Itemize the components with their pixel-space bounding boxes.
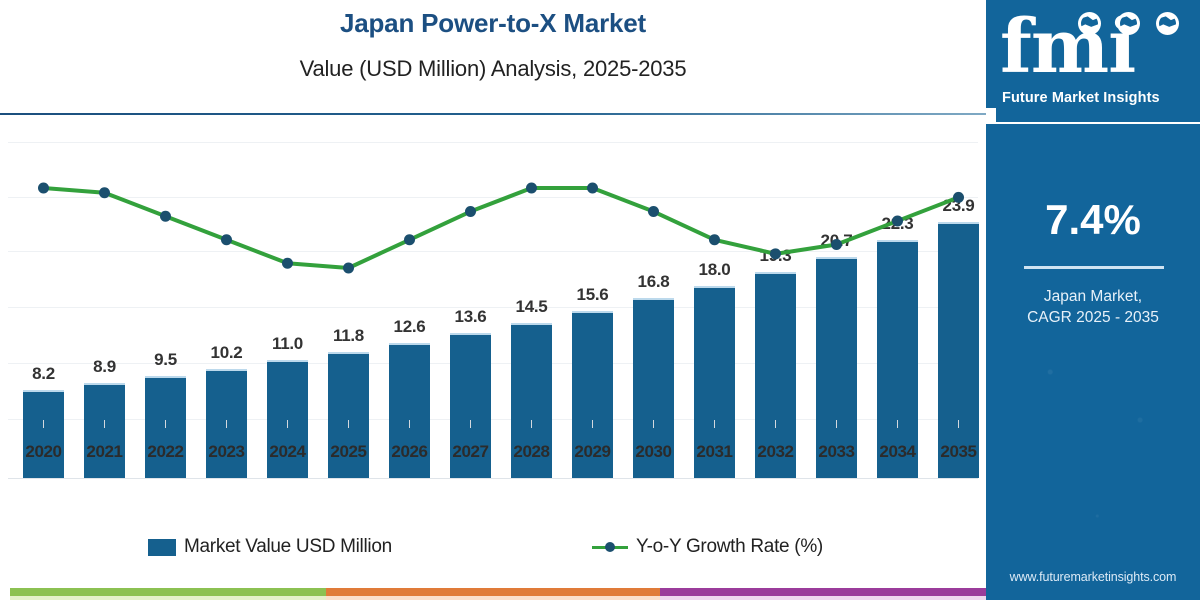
- x-axis-tick: [165, 420, 166, 428]
- x-axis-tick: [531, 420, 532, 428]
- x-axis-tick: [836, 420, 837, 428]
- growth-line-marker[interactable]: 2029: 8.6%: [587, 183, 598, 194]
- legend-swatch-line-icon: [592, 540, 628, 554]
- growth-line-marker[interactable]: 2031: 7.5%: [709, 234, 720, 245]
- chart-header: Japan Power-to-X Market Value (USD Milli…: [0, 0, 986, 114]
- bar-value-label: 16.8: [623, 272, 684, 292]
- x-axis-label: 2031: [681, 442, 748, 462]
- x-axis-label: 2030: [620, 442, 687, 462]
- x-axis-line: [8, 478, 978, 479]
- sidebar-url: www.futuremarketinsights.com: [986, 570, 1200, 584]
- gridline: [8, 142, 978, 143]
- growth-line-marker[interactable]: 2025: 6.9%: [343, 263, 354, 274]
- bar-value-label: 18.0: [684, 260, 745, 280]
- growth-line-marker[interactable]: 2022: 8%: [160, 211, 171, 222]
- header-divider: [0, 113, 986, 115]
- x-axis-tick: [409, 420, 410, 428]
- legend-item-market-value[interactable]: Market Value USD Million: [148, 536, 392, 558]
- bar-value-label: 9.5: [135, 350, 196, 370]
- x-axis-label: 2022: [132, 442, 199, 462]
- growth-line-marker[interactable]: 2020: 8.6%: [38, 183, 49, 194]
- x-axis-tick: [226, 420, 227, 428]
- bar-value-label: 14.5: [501, 297, 562, 317]
- bar-value-label: 15.6: [562, 285, 623, 305]
- x-axis-label: 2024: [254, 442, 321, 462]
- bar-value-label: 10.2: [196, 343, 257, 363]
- globe-icon: [1078, 12, 1101, 35]
- strip-glow-orange: [326, 596, 660, 600]
- x-axis-label: 2021: [71, 442, 138, 462]
- gridline: [8, 251, 978, 252]
- bar-value-label: 11.8: [318, 326, 379, 346]
- chart-legend: Market Value USD Million Y-o-Y Growth Ra…: [0, 536, 986, 572]
- growth-line-marker[interactable]: 2026: 7.5%: [404, 234, 415, 245]
- x-axis-label: 2027: [437, 442, 504, 462]
- cagr-value: 7.4%: [986, 196, 1200, 244]
- x-axis-tick: [287, 420, 288, 428]
- x-axis-tick: [775, 420, 776, 428]
- plot-area: 8.220208.920219.5202210.2202311.0202411.…: [0, 116, 986, 536]
- bar-value-label: 19.3: [745, 246, 806, 266]
- cagr-caption: Japan Market, CAGR 2025 - 2035: [986, 286, 1200, 328]
- strip-segment-orange: [326, 588, 660, 596]
- x-axis-label: 2029: [559, 442, 626, 462]
- cagr-caption-line1: Japan Market,: [1044, 288, 1142, 305]
- strip-segment-purple: [660, 588, 986, 596]
- cagr-divider: [1024, 266, 1164, 269]
- legend-item-growth-rate[interactable]: Y-o-Y Growth Rate (%): [592, 536, 823, 558]
- page-subtitle: Value (USD Million) Analysis, 2025-2035: [0, 56, 986, 82]
- growth-line-marker[interactable]: 2023: 7.5%: [221, 234, 232, 245]
- bar-value-label: 11.0: [257, 334, 318, 354]
- bar[interactable]: [938, 222, 979, 478]
- x-axis-label: 2028: [498, 442, 565, 462]
- growth-line-marker[interactable]: 2030: 8.1%: [648, 206, 659, 217]
- x-axis-label: 2034: [864, 442, 931, 462]
- bar[interactable]: [23, 390, 64, 478]
- growth-line-marker[interactable]: 2024: 7%: [282, 258, 293, 269]
- cagr-caption-line2: CAGR 2025 - 2035: [1027, 309, 1159, 326]
- x-axis-label: 2033: [803, 442, 870, 462]
- growth-line-marker[interactable]: 2027: 8.1%: [465, 206, 476, 217]
- bar-value-label: 13.6: [440, 307, 501, 327]
- bar-value-label: 22.3: [867, 214, 928, 234]
- footer-color-strip: [0, 582, 986, 600]
- bar[interactable]: [84, 383, 125, 478]
- bar-value-label: 8.2: [13, 364, 74, 384]
- chart-page: Japan Power-to-X Market Value (USD Milli…: [0, 0, 1200, 600]
- x-axis-label: 2025: [315, 442, 382, 462]
- growth-line-marker[interactable]: 2028: 8.6%: [526, 183, 537, 194]
- x-axis-tick: [897, 420, 898, 428]
- x-axis-label: 2026: [376, 442, 443, 462]
- x-axis-label: 2035: [925, 442, 992, 462]
- strip-glow-green: [10, 596, 326, 600]
- bar-value-label: 12.6: [379, 317, 440, 337]
- x-axis-tick: [592, 420, 593, 428]
- x-axis-tick: [104, 420, 105, 428]
- x-axis-tick: [348, 420, 349, 428]
- legend-swatch-bar-icon: [148, 539, 176, 556]
- gridline: [8, 197, 978, 198]
- fmi-logo[interactable]: fmi Future Market Insights: [986, 0, 1200, 122]
- x-axis-label: 2020: [10, 442, 77, 462]
- fmi-tagline: Future Market Insights: [1002, 90, 1160, 106]
- page-title: Japan Power-to-X Market: [0, 8, 986, 39]
- x-axis-tick: [714, 420, 715, 428]
- bar-value-label: 23.9: [928, 196, 989, 216]
- fmi-wordmark: fmi: [1000, 8, 1135, 86]
- x-axis-label: 2032: [742, 442, 809, 462]
- x-axis-tick: [958, 420, 959, 428]
- legend-label-market-value: Market Value USD Million: [184, 536, 392, 558]
- legend-label-growth-rate: Y-o-Y Growth Rate (%): [636, 536, 823, 558]
- globe-icon: [1156, 12, 1179, 35]
- bar-value-label: 20.7: [806, 231, 867, 251]
- x-axis-tick: [43, 420, 44, 428]
- sidebar-divider: [986, 122, 1200, 124]
- x-axis-tick: [653, 420, 654, 428]
- x-axis-label: 2023: [193, 442, 260, 462]
- strip-glow-purple: [660, 596, 986, 600]
- brand-sidebar: fmi Future Market Insights 7.4% Japan Ma…: [986, 0, 1200, 600]
- x-axis-tick: [470, 420, 471, 428]
- strip-segment-green: [10, 588, 326, 596]
- bar-value-label: 8.9: [74, 357, 135, 377]
- globe-icon: [1117, 12, 1140, 35]
